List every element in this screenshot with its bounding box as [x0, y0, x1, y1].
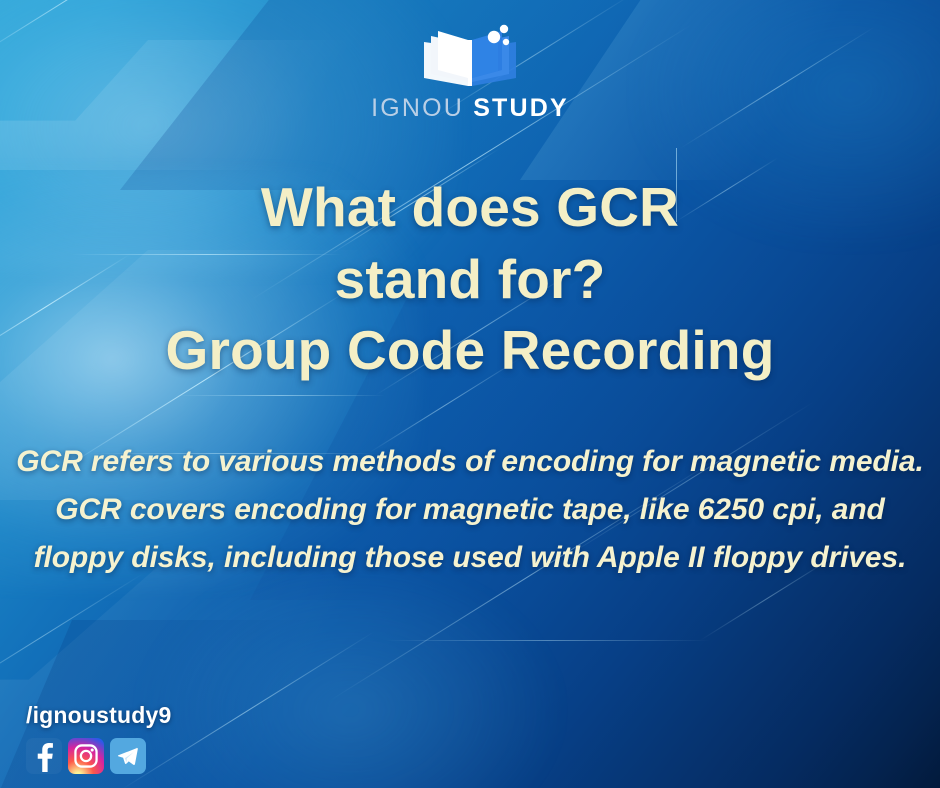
social-handle: /ignoustudy9 — [26, 704, 172, 727]
headline-line-2: stand for? — [34, 244, 906, 316]
brand-name-part1: IGNOU — [371, 94, 464, 122]
telegram-icon[interactable] — [110, 738, 146, 774]
brand-logo: IGNOU STUDY — [0, 22, 940, 121]
instagram-icon[interactable] — [68, 738, 104, 774]
diagonal-hairline — [0, 573, 144, 701]
circuit-line — [385, 640, 710, 641]
brand-name-part2: STUDY — [473, 94, 569, 122]
page-title: What does GCR stand for? Group Code Reco… — [0, 172, 940, 387]
open-book-icon — [418, 22, 522, 88]
facebook-icon[interactable] — [26, 738, 62, 774]
headline-line-3: Group Code Recording — [34, 315, 906, 387]
headline-line-1: What does GCR — [34, 172, 906, 244]
circuit-line — [175, 395, 385, 396]
footer: /ignoustudy9 — [26, 704, 172, 774]
body-text: GCR refers to various methods of encodin… — [14, 438, 926, 582]
social-icon-row — [26, 738, 172, 774]
glow-lower-left — [140, 560, 560, 788]
brand-name: IGNOU STUDY — [371, 96, 569, 121]
poster-canvas: IGNOU STUDY What does GCR stand for? Gro… — [0, 0, 940, 788]
